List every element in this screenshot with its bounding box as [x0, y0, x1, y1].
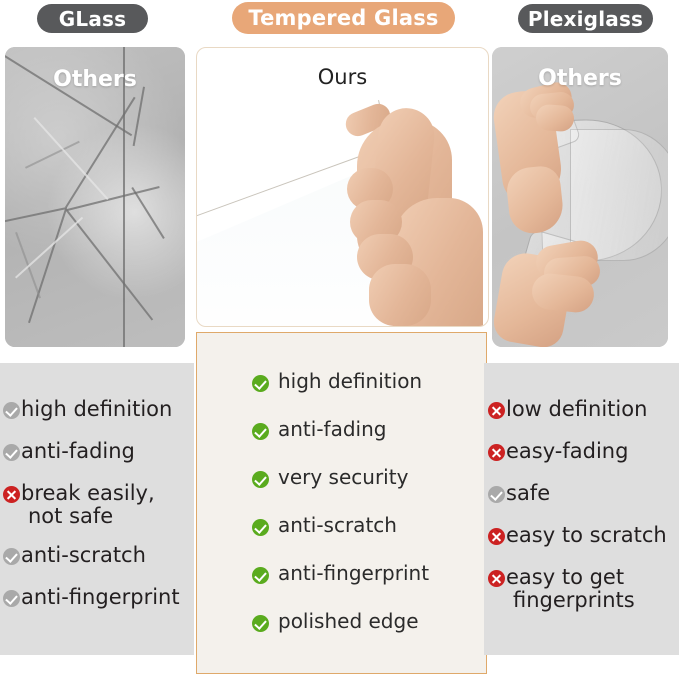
- cross-red-icon: [488, 402, 505, 419]
- list-item-label: polished edge: [278, 611, 419, 633]
- cross-red-icon: [3, 486, 20, 503]
- check-gray-icon: [488, 486, 505, 503]
- list-item-label-line2: not safe: [21, 505, 155, 528]
- list-item-label: safe: [506, 482, 550, 505]
- list-item-label: low definition: [506, 398, 647, 421]
- list-item: easy to get fingerprints: [488, 566, 635, 611]
- list-item-label: break easily, not safe: [21, 482, 155, 527]
- check-green-icon: [252, 567, 269, 584]
- cross-red-icon: [488, 570, 505, 587]
- cross-red-icon: [488, 444, 505, 461]
- list-item-label: easy to scratch: [506, 524, 667, 547]
- list-item-label: anti-fingerprint: [21, 586, 180, 609]
- header-pill-glass-label: GLass: [59, 7, 126, 31]
- check-green-icon: [252, 423, 269, 440]
- list-item: easy to scratch: [488, 524, 667, 547]
- cross-red-icon: [488, 528, 505, 545]
- check-green-icon: [252, 471, 269, 488]
- image-panel-glass-caption: Others: [5, 67, 185, 92]
- header-pill-tempered-glass: Tempered Glass: [232, 2, 455, 34]
- feature-list-glass: high definition anti-fading break easily…: [0, 363, 194, 655]
- header-pill-plexiglass-label: Plexiglass: [528, 7, 643, 31]
- list-item: anti-scratch: [252, 515, 397, 537]
- check-green-icon: [252, 519, 269, 536]
- list-item-label: easy to get fingerprints: [506, 566, 635, 611]
- list-item-label: high definition: [278, 371, 422, 393]
- image-panel-tempered-glass-caption: Ours: [197, 65, 488, 89]
- image-panel-glass: Others: [5, 47, 185, 347]
- shattered-glass-image: [5, 47, 185, 347]
- check-green-icon: [252, 375, 269, 392]
- list-item-label: very security: [278, 467, 408, 489]
- list-item: anti-fingerprint: [252, 563, 429, 585]
- header-pill-glass: GLass: [37, 4, 148, 33]
- list-item: anti-scratch: [3, 544, 146, 567]
- list-item-label: high definition: [21, 398, 172, 421]
- feature-list-tempered-glass: high definition anti-fading very securit…: [196, 332, 487, 674]
- check-gray-icon: [3, 548, 20, 565]
- image-panel-plexiglass-caption: Others: [492, 66, 668, 91]
- list-item-label: anti-fading: [21, 440, 135, 463]
- list-item-label-line2: fingerprints: [506, 589, 635, 612]
- list-item: anti-fingerprint: [3, 586, 180, 609]
- list-item-label: easy-fading: [506, 440, 628, 463]
- check-green-icon: [252, 615, 269, 632]
- check-gray-icon: [3, 444, 20, 461]
- list-item-label: anti-scratch: [21, 544, 146, 567]
- list-item: high definition: [3, 398, 172, 421]
- image-panel-tempered-glass: Ours: [196, 47, 489, 327]
- list-item: easy-fading: [488, 440, 628, 463]
- list-item: anti-fading: [3, 440, 135, 463]
- list-item: low definition: [488, 398, 647, 421]
- feature-list-plexiglass: low definition easy-fading safe easy to …: [484, 363, 679, 655]
- list-item-label: anti-fingerprint: [278, 563, 429, 585]
- list-item-label: anti-fading: [278, 419, 386, 441]
- list-item: break easily, not safe: [3, 482, 155, 527]
- check-gray-icon: [3, 402, 20, 419]
- header-pill-tempered-glass-label: Tempered Glass: [248, 6, 438, 30]
- header-pill-plexiglass: Plexiglass: [518, 4, 653, 33]
- list-item: anti-fading: [252, 419, 386, 441]
- list-item: very security: [252, 467, 408, 489]
- list-item: safe: [488, 482, 550, 505]
- list-item: high definition: [252, 371, 422, 393]
- list-item: polished edge: [252, 611, 419, 633]
- list-item-label-line1: break easily,: [21, 481, 155, 505]
- check-gray-icon: [3, 590, 20, 607]
- list-item-label: anti-scratch: [278, 515, 397, 537]
- image-panel-plexiglass: Others: [492, 47, 668, 347]
- list-item-label-line1: easy to get: [506, 565, 624, 589]
